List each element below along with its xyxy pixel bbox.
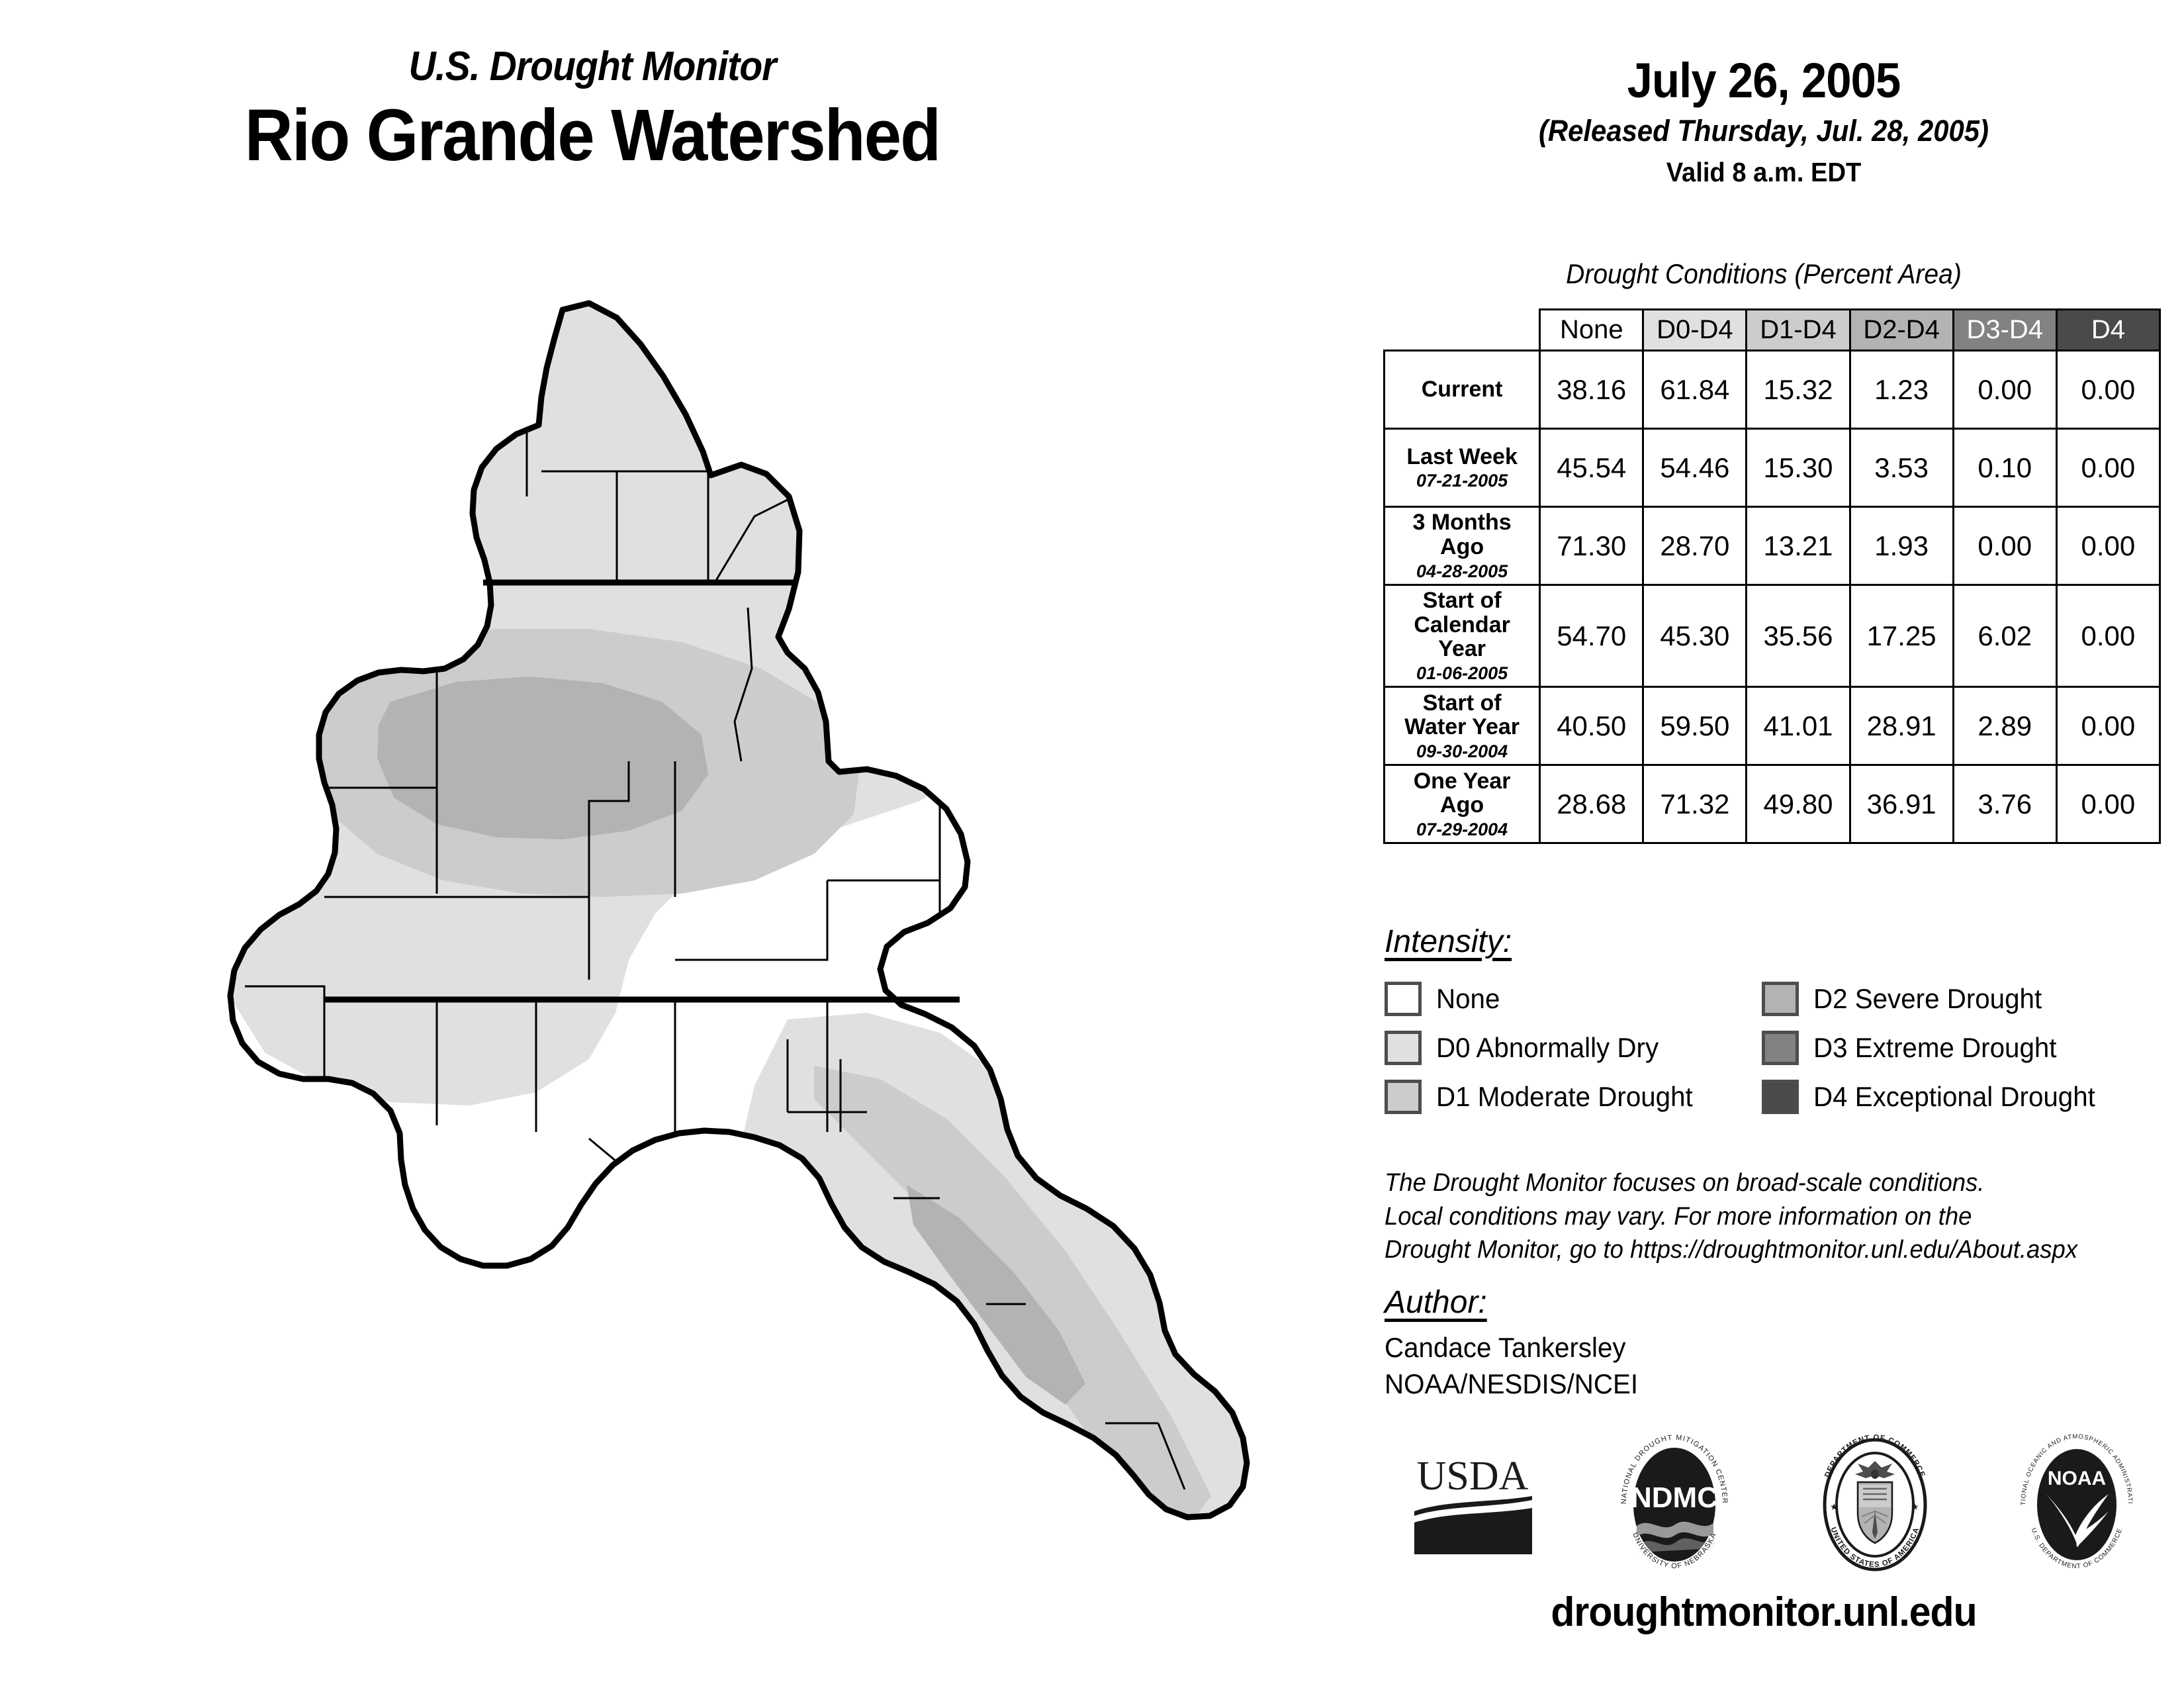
- drought-monitor-page: U.S. Drought Monitor Rio Grande Watershe…: [0, 0, 2184, 1688]
- table-row-label: One Year Ago07-29-2004: [1385, 765, 1540, 843]
- table-corner-cell: [1385, 310, 1540, 351]
- table-body: Current38.1661.8415.321.230.000.00Last W…: [1385, 351, 2160, 843]
- table-cell-d3-d4: 0.00: [1953, 507, 2056, 585]
- page-subtitle: U.S. Drought Monitor: [48, 46, 1138, 87]
- table-cell-d2-d4: 3.53: [1850, 429, 1953, 507]
- table-row-label: 3 Months Ago04-28-2005: [1385, 507, 1540, 585]
- disclaimer-text: The Drought Monitor focuses on broad-sca…: [1385, 1166, 2154, 1267]
- table-cell-d4: 0.00: [2056, 687, 2160, 765]
- table-row: Start ofWater Year09-30-200440.5059.5041…: [1385, 687, 2160, 765]
- table-cell-d4: 0.00: [2056, 429, 2160, 507]
- noaa-logo[interactable]: NOAA NATIONAL OCEANIC AND ATMOSPHERIC AD…: [2012, 1433, 2141, 1579]
- table-header-row: NoneD0-D4D1-D4D2-D4D3-D4D4: [1385, 310, 2160, 351]
- table-cell-d1-d4: 49.80: [1747, 765, 1850, 843]
- table-cell-d2-d4: 36.91: [1850, 765, 1953, 843]
- table-cell-none: 38.16: [1540, 351, 1643, 429]
- table-cell-d1-d4: 13.21: [1747, 507, 1850, 585]
- author-affiliation: NOAA/NESDIS/NCEI: [1385, 1366, 1638, 1402]
- author-heading: Author:: [1385, 1284, 1487, 1321]
- table-cell-d4: 0.00: [2056, 585, 2160, 687]
- legend-swatch: [1385, 1080, 1422, 1114]
- legend-item: D0 Abnormally Dry: [1385, 1031, 1762, 1065]
- table-cell-d4: 0.00: [2056, 507, 2160, 585]
- usda-logo-text: USDA: [1417, 1454, 1529, 1499]
- legend-item: None: [1385, 982, 1762, 1016]
- table-row-date: 04-28-2005: [1389, 562, 1535, 581]
- table-row: Current38.1661.8415.321.230.000.00: [1385, 351, 2160, 429]
- valid-time: Valid 8 a.m. EDT: [1373, 159, 2154, 186]
- table-cell-d0-d4: 61.84: [1643, 351, 1747, 429]
- disclaimer-line-3: Drought Monitor, go to https://droughtmo…: [1385, 1233, 2154, 1267]
- legend-swatch: [1385, 982, 1422, 1016]
- legend-label: None: [1436, 983, 1500, 1015]
- author-info: Candace Tankersley NOAA/NESDIS/NCEI: [1385, 1329, 1638, 1403]
- table-col-header-d0-d4: D0-D4: [1643, 310, 1747, 351]
- table-row-label: Start ofCalendar Year01-06-2005: [1385, 585, 1540, 687]
- table-cell-d0-d4: 45.30: [1643, 585, 1747, 687]
- table-row-label: Current: [1385, 351, 1540, 429]
- table-cell-d3-d4: 3.76: [1953, 765, 2056, 843]
- legend-item: D4 Exceptional Drought: [1762, 1080, 2172, 1114]
- legend-label: D2 Severe Drought: [1813, 983, 2042, 1015]
- legend-swatch: [1762, 1080, 1799, 1114]
- legend-label: D3 Extreme Drought: [1813, 1032, 2057, 1064]
- table-row-date: 07-29-2004: [1389, 820, 1535, 839]
- ndmc-logo-text: NDMC: [1631, 1481, 1718, 1514]
- date-block: July 26, 2005 (Released Thursday, Jul. 2…: [1343, 56, 2184, 186]
- table-row-date: 09-30-2004: [1389, 742, 1535, 761]
- table-cell-d0-d4: 59.50: [1643, 687, 1747, 765]
- report-date: July 26, 2005: [1373, 56, 2154, 105]
- table-row-label: Last Week07-21-2005: [1385, 429, 1540, 507]
- table-cell-d2-d4: 1.23: [1850, 351, 1953, 429]
- disclaimer-line-2: Local conditions may vary. For more info…: [1385, 1200, 2154, 1234]
- watershed-map-svg[interactable]: [126, 298, 1251, 1615]
- table-cell-d3-d4: 0.10: [1953, 429, 2056, 507]
- doc-seal[interactable]: ★ ★ DEPARTMENT OF COMMERCE UNITED STATES…: [1810, 1433, 1939, 1579]
- legend-item: D2 Severe Drought: [1762, 982, 2172, 1016]
- intensity-legend: NoneD2 Severe DroughtD0 Abnormally DryD3…: [1385, 974, 2172, 1121]
- release-date: (Released Thursday, Jul. 28, 2005): [1373, 116, 2154, 146]
- legend-item: D1 Moderate Drought: [1385, 1080, 1762, 1114]
- ndmc-logo[interactable]: NDMC NATIONAL DROUGHT MITIGATION CENTER …: [1612, 1433, 1737, 1579]
- table-cell-d2-d4: 1.93: [1850, 507, 1953, 585]
- watershed-map[interactable]: [126, 298, 1251, 1615]
- table-cell-d1-d4: 41.01: [1747, 687, 1850, 765]
- legend-swatch: [1762, 1031, 1799, 1065]
- table-cell-none: 54.70: [1540, 585, 1643, 687]
- title-block: U.S. Drought Monitor Rio Grande Watershe…: [0, 46, 1185, 172]
- agency-logos: USDA NDMC NAT: [1370, 1430, 2177, 1582]
- table-cell-d0-d4: 54.46: [1643, 429, 1747, 507]
- table-cell-d2-d4: 28.91: [1850, 687, 1953, 765]
- table-cell-none: 40.50: [1540, 687, 1643, 765]
- table-col-header-d4: D4: [2056, 310, 2160, 351]
- table-cell-none: 28.68: [1540, 765, 1643, 843]
- legend-item: D3 Extreme Drought: [1762, 1031, 2172, 1065]
- table-caption: Drought Conditions (Percent Area): [1373, 258, 2154, 290]
- page-title: Rio Grande Watershed: [48, 99, 1138, 172]
- disclaimer-line-1: The Drought Monitor focuses on broad-sca…: [1385, 1166, 2154, 1200]
- table-row: Last Week07-21-200545.5454.4615.303.530.…: [1385, 429, 2160, 507]
- table-cell-d4: 0.00: [2056, 765, 2160, 843]
- table-cell-d1-d4: 35.56: [1747, 585, 1850, 687]
- usda-logo[interactable]: USDA: [1406, 1448, 1539, 1564]
- website-url[interactable]: droughtmonitor.unl.edu: [1365, 1589, 2163, 1636]
- table-row-label: Start ofWater Year09-30-2004: [1385, 687, 1540, 765]
- table-col-header-d3-d4: D3-D4: [1953, 310, 2056, 351]
- drought-conditions-table: NoneD0-D4D1-D4D2-D4D3-D4D4 Current38.166…: [1383, 308, 2161, 844]
- legend-label: D4 Exceptional Drought: [1813, 1081, 2095, 1113]
- table-cell-d1-d4: 15.30: [1747, 429, 1850, 507]
- svg-text:★: ★: [1830, 1501, 1839, 1512]
- table-cell-d2-d4: 17.25: [1850, 585, 1953, 687]
- table-row-date: 07-21-2005: [1389, 471, 1535, 491]
- table-cell-none: 45.54: [1540, 429, 1643, 507]
- table-col-header-none: None: [1540, 310, 1643, 351]
- legend-label: D0 Abnormally Dry: [1436, 1032, 1659, 1064]
- table-cell-d4: 0.00: [2056, 351, 2160, 429]
- table-cell-d1-d4: 15.32: [1747, 351, 1850, 429]
- table-cell-d3-d4: 6.02: [1953, 585, 2056, 687]
- noaa-logo-text: NOAA: [2048, 1468, 2106, 1489]
- author-name: Candace Tankersley: [1385, 1329, 1638, 1366]
- legend-label: D1 Moderate Drought: [1436, 1081, 1693, 1113]
- table-cell-none: 71.30: [1540, 507, 1643, 585]
- table-row: 3 Months Ago04-28-200571.3028.7013.211.9…: [1385, 507, 2160, 585]
- table-cell-d3-d4: 2.89: [1953, 687, 2056, 765]
- svg-text:★: ★: [1911, 1501, 1919, 1512]
- table-col-header-d1-d4: D1-D4: [1747, 310, 1850, 351]
- table-col-header-d2-d4: D2-D4: [1850, 310, 1953, 351]
- table-row: One Year Ago07-29-200428.6871.3249.8036.…: [1385, 765, 2160, 843]
- intensity-heading: Intensity:: [1385, 923, 1512, 960]
- table-cell-d3-d4: 0.00: [1953, 351, 2056, 429]
- table-row: Start ofCalendar Year01-06-200554.7045.3…: [1385, 585, 2160, 687]
- legend-swatch: [1385, 1031, 1422, 1065]
- table-cell-d0-d4: 28.70: [1643, 507, 1747, 585]
- map-region-d2-core: [377, 677, 708, 839]
- legend-swatch: [1762, 982, 1799, 1016]
- table-cell-d0-d4: 71.32: [1643, 765, 1747, 843]
- table-row-date: 01-06-2005: [1389, 664, 1535, 683]
- right-panel: July 26, 2005 (Released Thursday, Jul. 2…: [1343, 0, 2184, 1688]
